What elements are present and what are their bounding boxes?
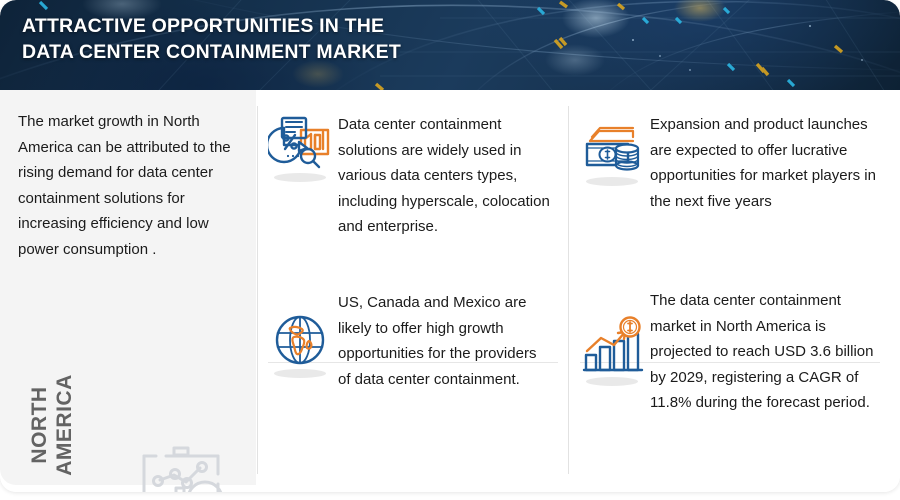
icon-shadow [274,369,326,378]
insight-text: Data center containment solutions are wi… [332,112,553,240]
insight-text: Expansion and product launches are expec… [644,112,876,214]
infographic-card: ATTRACTIVE OPPORTUNITIES IN THE DATA CEN… [0,0,900,492]
insight-text: US, Canada and Mexico are likely to offe… [332,290,553,392]
money-cash-coins-icon [580,116,644,180]
growth-bar-chart-dollar-icon [580,316,644,380]
icon-shadow [586,177,638,186]
icon-shadow [274,173,326,182]
region-label: NORTH AMERICA [27,355,77,492]
market-analysis-percent-icon [268,112,332,176]
presentation-chart-analysis-icon [122,442,240,492]
insight-item-market-analysis: Data center containment solutions are wi… [268,112,553,240]
page-title: ATTRACTIVE OPPORTUNITIES IN THE DATA CEN… [22,13,582,65]
column-divider-1 [257,106,258,474]
insight-item-forecast: The data center containment market in No… [580,288,880,416]
column-divider-2 [568,106,569,474]
sidebar-panel: The market growth in North America can b… [0,90,256,485]
insight-item-regions: US, Canada and Mexico are likely to offe… [268,290,553,392]
insight-item-expansion: Expansion and product launches are expec… [580,112,880,214]
header-banner: ATTRACTIVE OPPORTUNITIES IN THE DATA CEN… [0,0,900,90]
globe-icon [268,308,332,372]
insight-text: The data center containment market in No… [644,288,876,416]
sidebar-summary-text: The market growth in North America can b… [18,109,236,262]
infographic-root: ATTRACTIVE OPPORTUNITIES IN THE DATA CEN… [0,0,900,500]
icon-shadow [586,377,638,386]
content-area: The market growth in North America can b… [0,90,900,492]
